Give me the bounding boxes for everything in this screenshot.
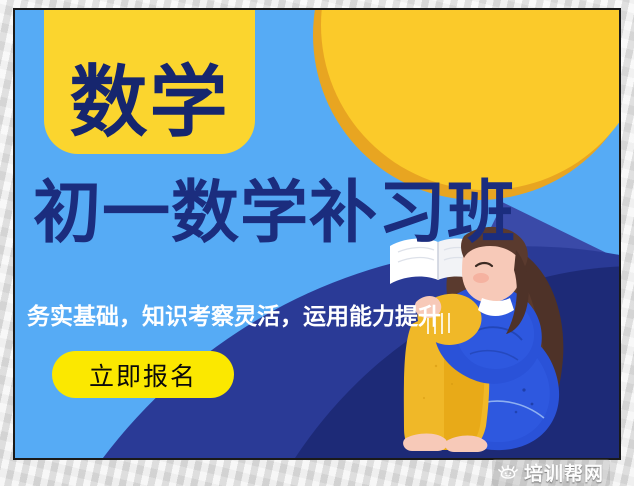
subject-badge-label: 数学 [69,64,229,142]
subtitle-text: 务实基础，知识考察灵活，运用能力提升 [27,297,497,331]
corner-accent-edge-shape [313,10,619,200]
page-title: 初一数学补习班 [33,178,605,249]
enroll-now-button[interactable]: 立即报名 [52,351,234,398]
corner-accent-yellow-shape [321,10,619,190]
watermark: 培训帮网 [492,459,610,486]
enroll-now-button-label: 立即报名 [89,357,197,393]
page-surround: 数学 [0,0,634,486]
subject-badge: 数学 [44,10,255,154]
watermark-label: 培训帮网 [524,459,604,486]
sun-smiley-icon [498,463,518,483]
banner-frame: 数学 [13,8,621,460]
promo-banner: 数学 [15,10,619,458]
